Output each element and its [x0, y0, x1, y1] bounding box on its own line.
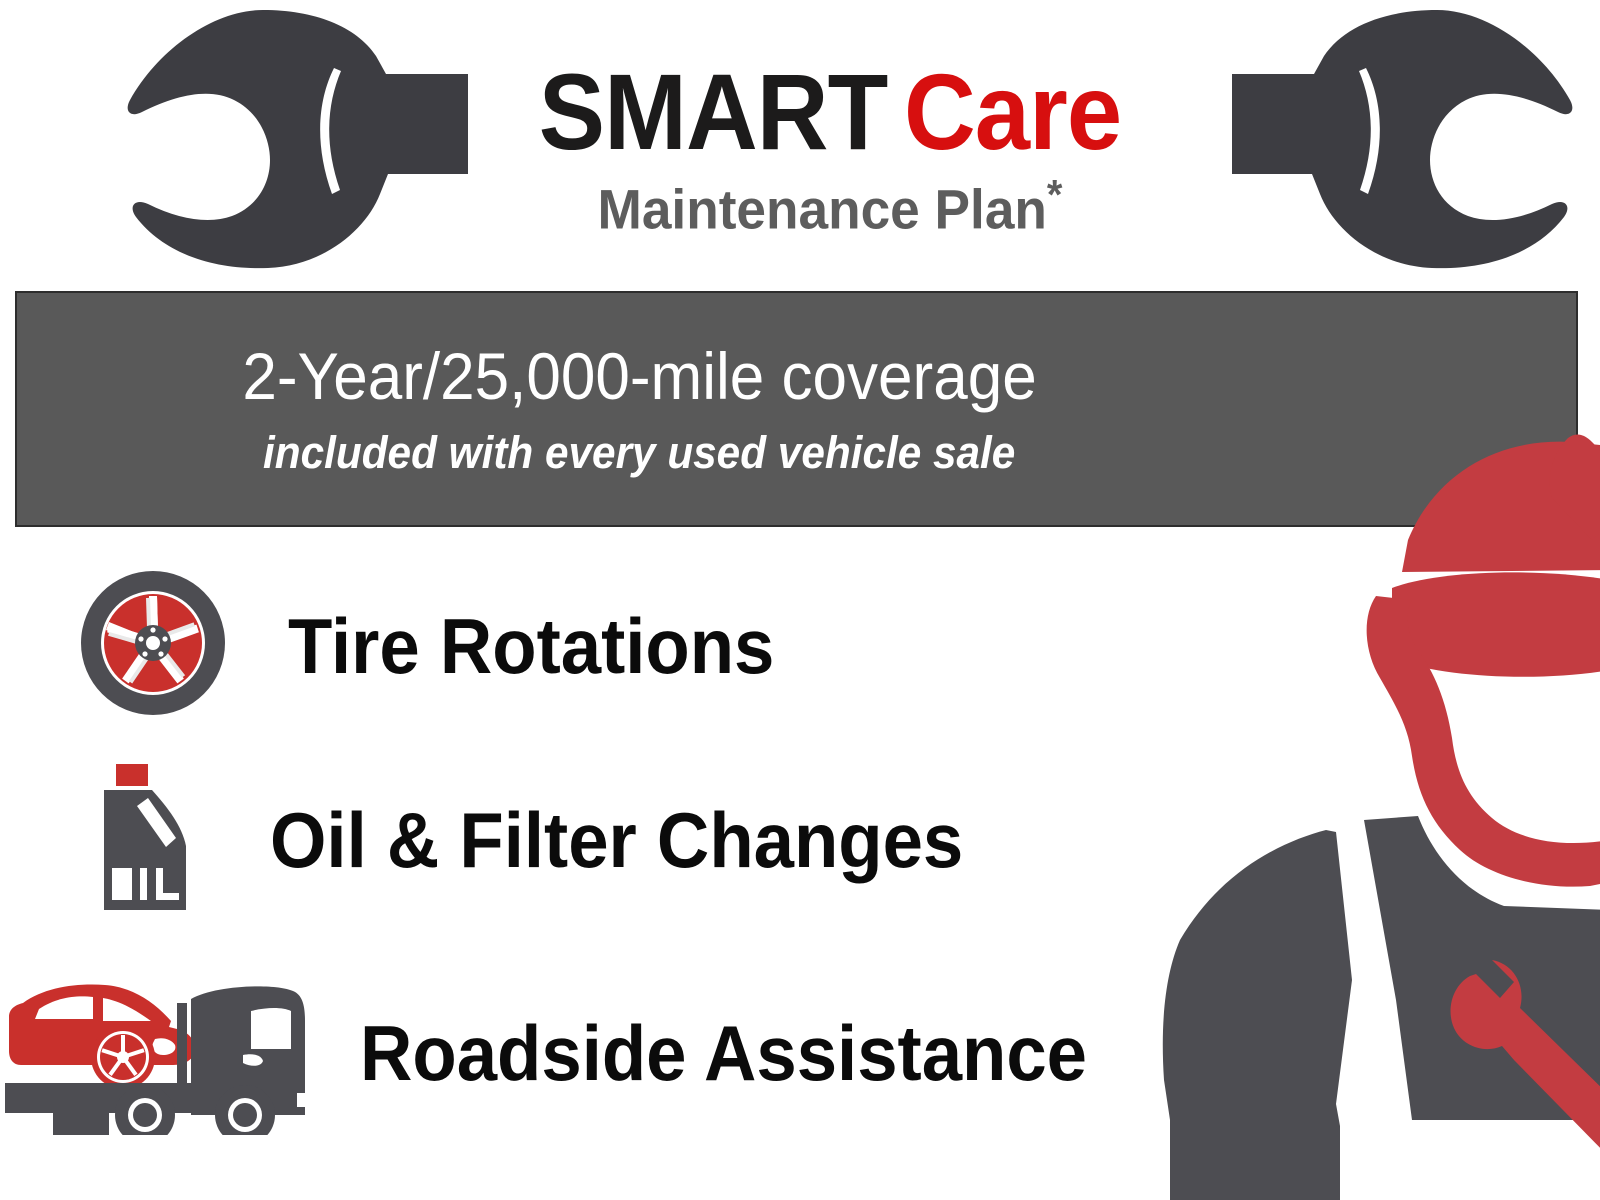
feature-label: Roadside Assistance [360, 1014, 1087, 1092]
coverage-headline: 2-Year/25,000-mile coverage [242, 342, 1036, 411]
coverage-banner-text: 2-Year/25,000-mile coverage included wit… [17, 293, 1262, 525]
logo-asterisk: * [1047, 171, 1063, 218]
feature-item-roadside-assistance: Roadside Assistance [5, 965, 1142, 1140]
coverage-banner: 2-Year/25,000-mile coverage included wit… [15, 291, 1578, 527]
logo-wordmark: SMARTCare Maintenance Plan* [430, 58, 1230, 238]
mechanic-illustration [1140, 420, 1600, 1200]
coverage-subline: included with every used vehicle sale [263, 429, 1015, 476]
logo-subtitle-text: Maintenance Plan [598, 178, 1047, 241]
header: SMARTCare Maintenance Plan* [0, 0, 1600, 280]
wrench-icon [118, 8, 468, 270]
tire-icon [78, 568, 228, 723]
feature-item-oil-filter-changes: Oil & Filter Changes [90, 760, 1015, 920]
logo-main-line: SMARTCare [462, 58, 1198, 166]
tow-truck-icon [5, 965, 325, 1140]
feature-label: Oil & Filter Changes [270, 801, 963, 879]
wrench-icon [1232, 8, 1582, 270]
logo-subtitle: Maintenance Plan* [450, 174, 1210, 238]
logo-primary-text: SMART [539, 51, 888, 172]
oil-bottle-icon [90, 760, 200, 920]
feature-label: Tire Rotations [288, 607, 774, 685]
feature-item-tire-rotations: Tire Rotations [78, 568, 811, 723]
logo-secondary-text: Care [904, 51, 1121, 172]
smart-care-promo-graphic: SMARTCare Maintenance Plan* 2-Year/25,00… [0, 0, 1600, 1200]
